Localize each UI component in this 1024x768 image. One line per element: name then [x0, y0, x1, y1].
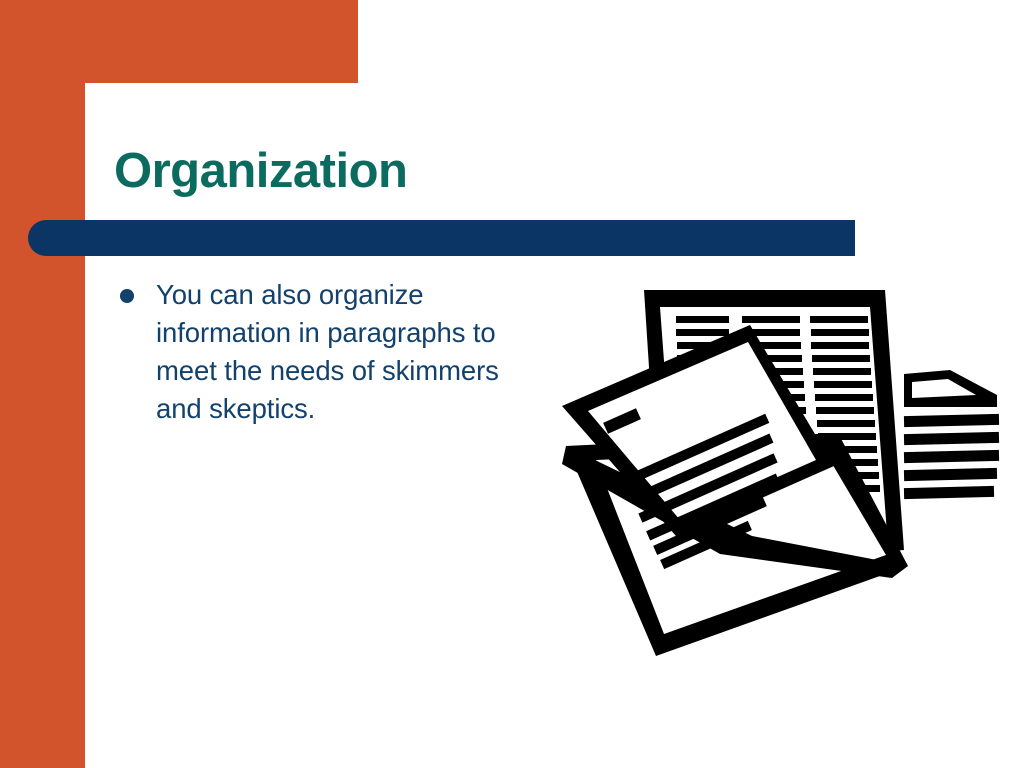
accent-bar-vertical: [0, 0, 85, 768]
title-underline-rule: [28, 220, 855, 256]
list-item-label: You can also organize information in par…: [156, 279, 499, 424]
accent-block-top: [0, 0, 358, 83]
list-item: You can also organize information in par…: [112, 276, 532, 428]
page-title: Organization: [114, 146, 407, 197]
body-bullet-list: You can also organize information in par…: [112, 276, 532, 428]
documents-and-envelope-clipart: [552, 278, 1014, 664]
presentation-slide: Organization You can also organize infor…: [0, 0, 1024, 768]
bullet-dot-icon: [120, 289, 134, 303]
